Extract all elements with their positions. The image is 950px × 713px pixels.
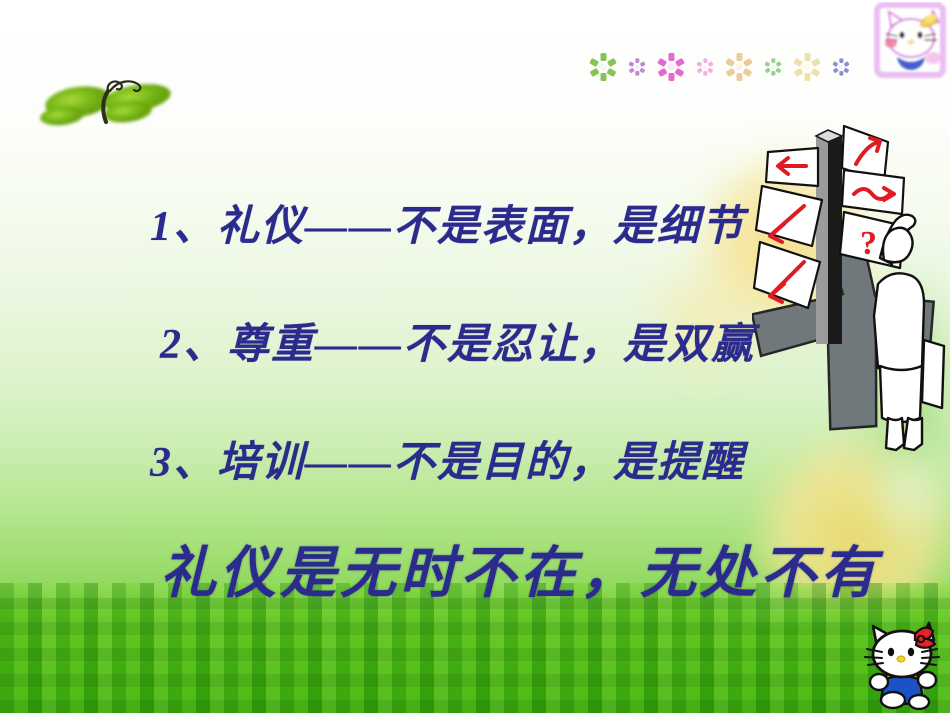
slide-canvas: ? xyxy=(0,0,950,713)
body-line-1: 1、礼仪——不是表面，是细节 xyxy=(150,192,745,253)
body-line-2: 2、尊重——不是忍让，是双赢 xyxy=(160,310,755,371)
body-line-3: 3、培训——不是目的，是提醒 xyxy=(150,428,745,489)
text-content: 1、礼仪——不是表面，是细节 2、尊重——不是忍让，是双赢 3、培训——不是目的… xyxy=(0,0,950,713)
final-statement: 礼仪是无时不在，无处不有 xyxy=(160,528,880,609)
